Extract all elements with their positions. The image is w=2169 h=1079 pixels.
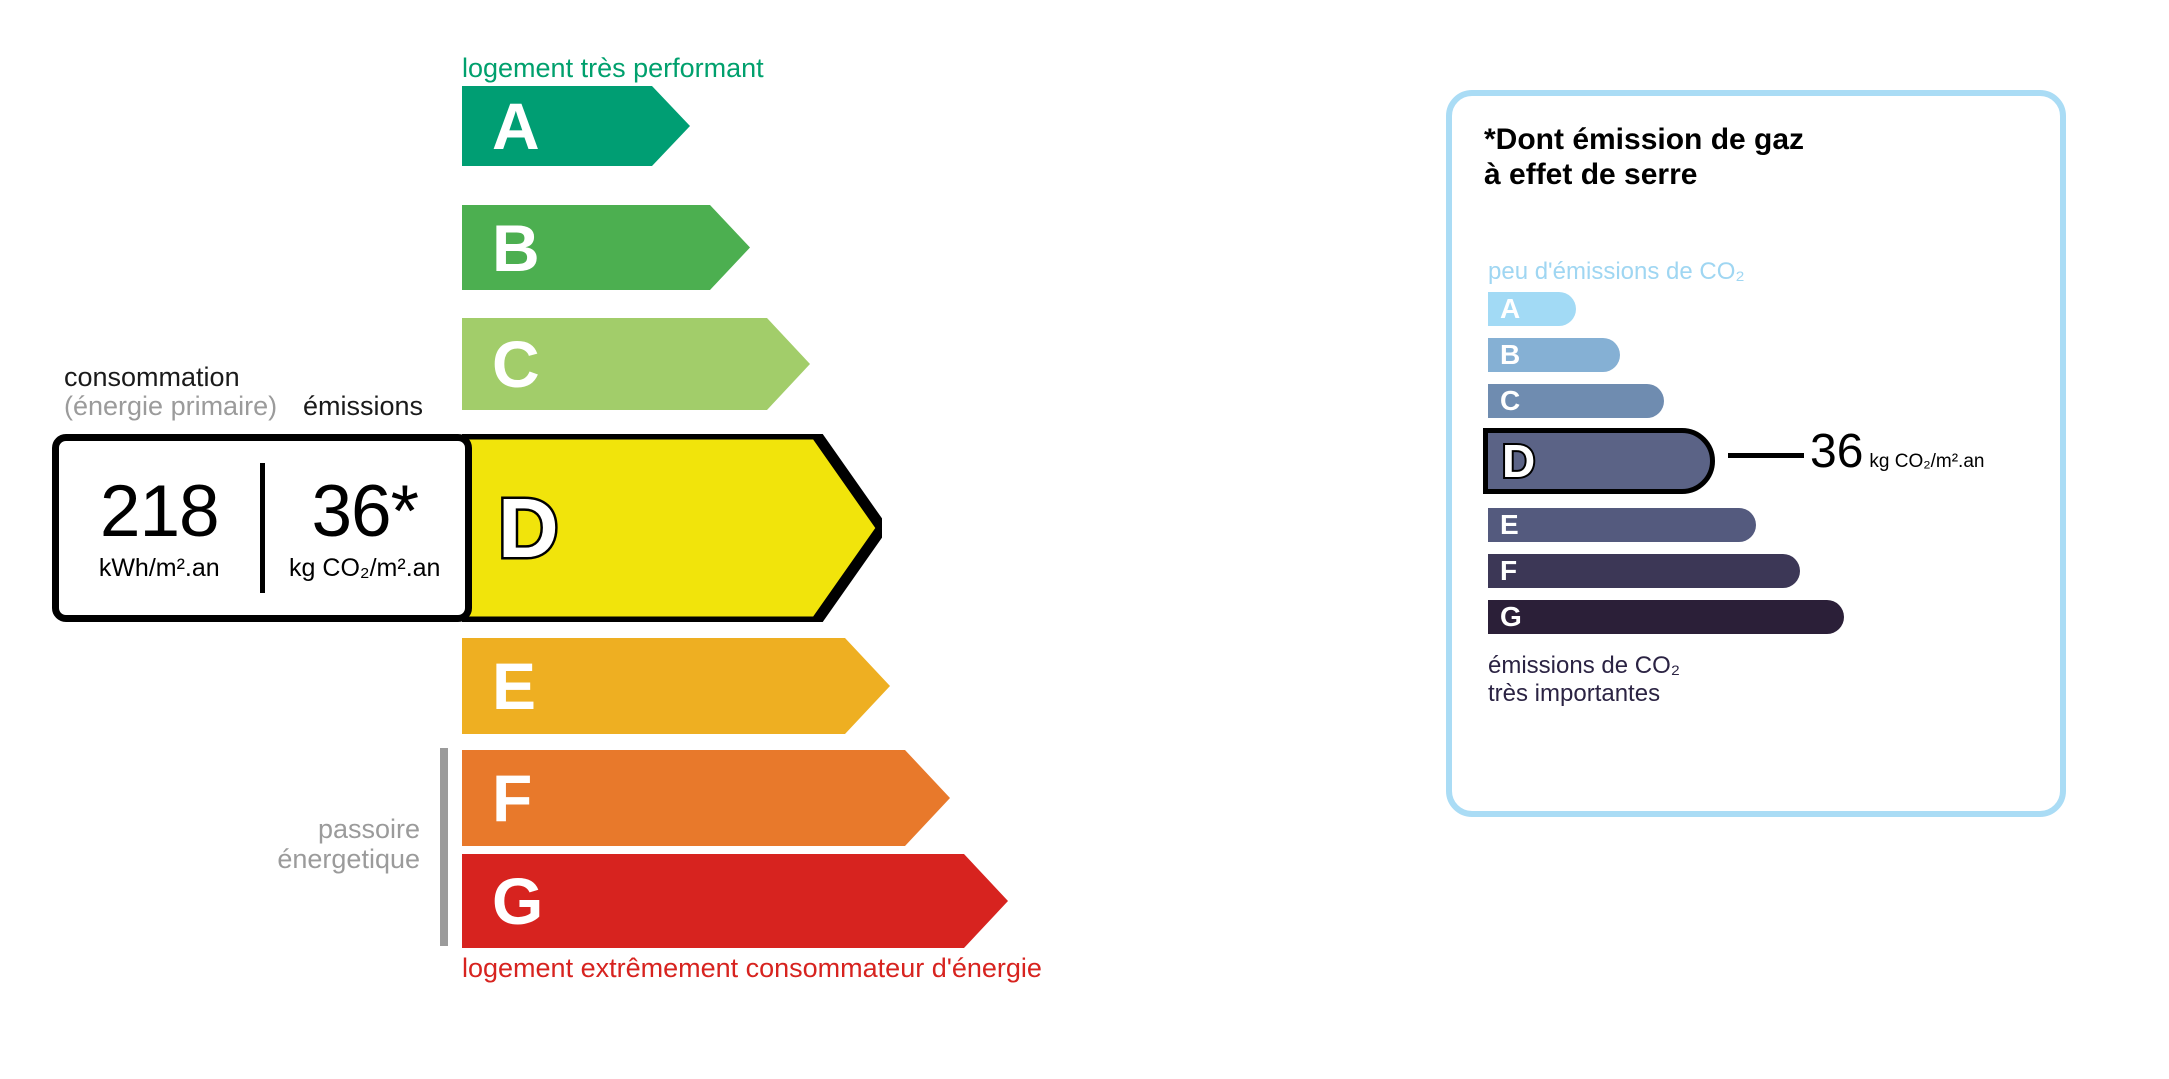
passoire-line-1: passoire — [318, 814, 420, 844]
co2-top-caption: peu d'émissions de CO₂ — [1488, 260, 1745, 284]
energy-top-caption: logement très performant — [462, 55, 764, 82]
energy-band-a-shape — [462, 86, 690, 166]
co2-bar-c[interactable]: C — [1488, 384, 1664, 418]
co2-bar-g-letter: G — [1500, 603, 1522, 631]
energy-band-d[interactable]: D — [462, 434, 882, 622]
consumption-unit: kWh/m².an — [59, 556, 260, 581]
co2-leader-line — [1728, 453, 1804, 458]
emissions-value: 36* — [265, 475, 466, 548]
energy-band-f-shape — [462, 750, 950, 846]
energy-band-g-shape — [462, 854, 1008, 948]
co2-value: 36 — [1810, 425, 1863, 478]
co2-panel-title: *Dont émission de gaz à effet de serre — [1484, 122, 1804, 192]
passoire-bracket-bar — [440, 748, 448, 946]
energy-band-c-shape — [462, 318, 810, 410]
co2-bar-b[interactable]: B — [1488, 338, 1620, 372]
co2-bar-e-letter: E — [1500, 511, 1519, 539]
consumption-label-block: consommation (énergie primaire) — [64, 363, 277, 420]
energy-band-g[interactable]: G — [462, 854, 1008, 948]
co2-unit: kg CO₂/m².an — [1869, 451, 1984, 472]
co2-bar-d-letter: D — [1502, 438, 1535, 484]
energy-band-a[interactable]: A — [462, 86, 690, 166]
passoire-line-2: énergetique — [277, 844, 420, 874]
energy-band-e-shape — [462, 638, 890, 734]
co2-bar-c-letter: C — [1500, 387, 1520, 415]
passoire-label: passoire énergetique — [175, 814, 420, 874]
emissions-label: émissions — [303, 393, 423, 420]
co2-bar-f[interactable]: F — [1488, 554, 1800, 588]
energy-band-b[interactable]: B — [462, 205, 750, 290]
consumption-value-cell: 218 kWh/m².an — [59, 475, 260, 581]
energy-band-e[interactable]: E — [462, 638, 890, 734]
energy-band-f[interactable]: F — [462, 750, 950, 846]
co2-panel: *Dont émission de gaz à effet de serre p… — [1446, 90, 2066, 817]
co2-value-block: 36kg CO₂/m².an — [1810, 428, 1984, 476]
dpe-value-box: 218 kWh/m².an 36* kg CO₂/m².an — [52, 434, 472, 622]
co2-bottom-caption: émissions de CO₂ très importantes — [1488, 652, 1680, 709]
co2-bar-a[interactable]: A — [1488, 292, 1576, 326]
co2-bar-e[interactable]: E — [1488, 508, 1756, 542]
energy-band-b-shape — [462, 205, 750, 290]
emissions-value-cell: 36* kg CO₂/m².an — [265, 475, 466, 581]
co2-bar-g[interactable]: G — [1488, 600, 1844, 634]
co2-bar-f-letter: F — [1500, 557, 1517, 585]
energy-band-d-shape — [462, 434, 882, 622]
co2-bar-a-letter: A — [1500, 295, 1520, 323]
energy-band-c[interactable]: C — [462, 318, 810, 410]
emissions-unit: kg CO₂/m².an — [265, 556, 466, 581]
consumption-value: 218 — [59, 475, 260, 548]
consumption-sublabel: (énergie primaire) — [64, 392, 277, 421]
co2-bar-d[interactable]: D — [1483, 428, 1715, 494]
energy-bottom-caption: logement extrêmement consommateur d'éner… — [462, 955, 1042, 982]
co2-bar-b-letter: B — [1500, 341, 1520, 369]
consumption-label: consommation — [64, 362, 240, 392]
dpe-energy-diagram: logement très performant A B C D E — [0, 0, 1440, 1079]
